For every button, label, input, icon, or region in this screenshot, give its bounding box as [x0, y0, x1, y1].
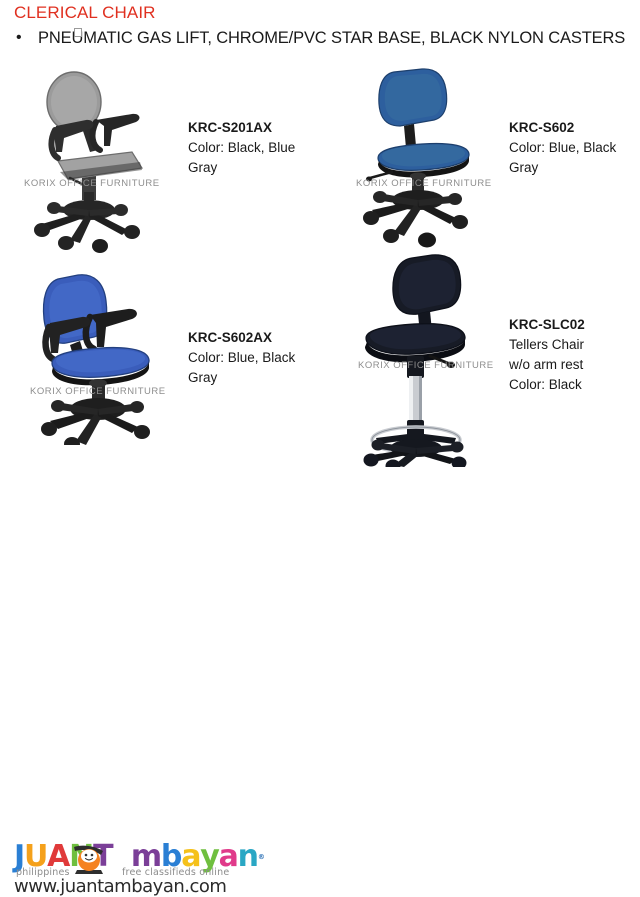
mascot-icon	[72, 842, 106, 876]
logo-letter-12: n	[238, 842, 258, 872]
product-photo-1	[20, 60, 190, 260]
product-caption-2: KRC-S602 Color: Blue, Black Gray	[509, 118, 616, 178]
product-line-1-1: Gray	[188, 158, 295, 178]
bullet-row: • PNEUMATIC GAS LIFT, CHROME/PVC STAR BA…	[14, 27, 634, 49]
product-caption-1: KRC-S201AX Color: Black, Blue Gray	[188, 118, 295, 178]
scan-artifact	[74, 28, 82, 37]
product-line-4-1: w/o arm rest	[509, 355, 585, 375]
product-line-4-2: Color: Black	[509, 375, 585, 395]
product-model-2: KRC-S602	[509, 118, 616, 138]
product-line-3-0: Color: Blue, Black	[188, 348, 295, 368]
product-photo-2	[352, 60, 512, 260]
site-footer: JUANT mbayan® philippines free classifie…	[0, 418, 640, 480]
chair-illustration-gray-armchair	[20, 60, 190, 260]
logo-trademark: ®	[258, 842, 265, 872]
product-model-4: KRC-SLC02	[509, 315, 585, 335]
chair-illustration-blue-armless	[352, 60, 512, 260]
product-caption-3: KRC-S602AX Color: Blue, Black Gray	[188, 328, 295, 388]
product-line-2-0: Color: Blue, Black	[509, 138, 616, 158]
product-line-4-0: Tellers Chair	[509, 335, 585, 355]
product-caption-4: KRC-SLC02 Tellers Chair w/o arm rest Col…	[509, 315, 585, 395]
product-line-3-1: Gray	[188, 368, 295, 388]
product-line-1-0: Color: Black, Blue	[188, 138, 295, 158]
product-model-1: KRC-S201AX	[188, 118, 295, 138]
page-title: CLERICAL CHAIR	[14, 3, 156, 23]
bullet-marker-icon: •	[14, 27, 38, 49]
site-url[interactable]: www.juantambayan.com	[14, 876, 226, 897]
product-model-3: KRC-S602AX	[188, 328, 295, 348]
bullet-text: PNEUMATIC GAS LIFT, CHROME/PVC STAR BASE…	[38, 27, 625, 49]
product-line-2-1: Gray	[509, 158, 616, 178]
logo-letter-5	[112, 842, 121, 872]
